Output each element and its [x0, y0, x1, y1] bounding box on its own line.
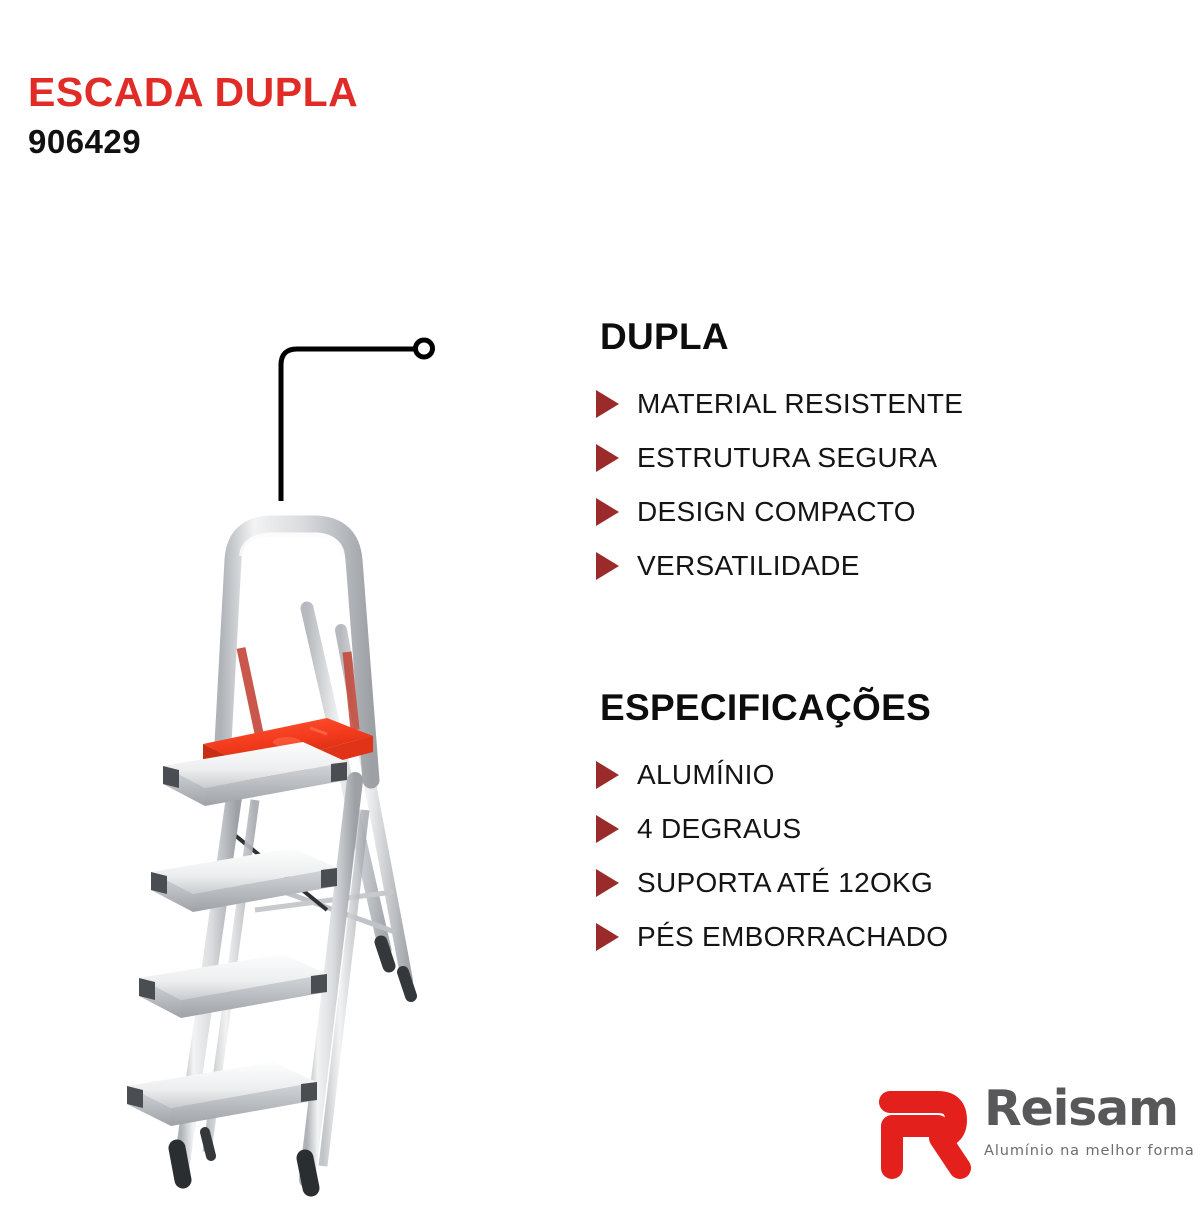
- triangle-right-icon: [596, 923, 619, 951]
- list-item: ESTRUTURA SEGURA: [596, 431, 1176, 485]
- list-item: ALUMÍNIO: [596, 748, 1176, 802]
- step-ladder-illustration: [55, 480, 515, 1200]
- feature-label: MATERIAL RESISTENTE: [637, 388, 963, 420]
- feature-label: DESIGN COMPACTO: [637, 496, 916, 528]
- triangle-right-icon: [596, 761, 619, 789]
- reisam-r-monogram-icon: [872, 1076, 976, 1180]
- product-image: [55, 480, 515, 1200]
- feature-label: ALUMÍNIO: [637, 759, 775, 791]
- feature-label: 4 DEGRAUS: [637, 813, 802, 845]
- step: [127, 1062, 317, 1126]
- content-column: DUPLA MATERIAL RESISTENTE ESTRUTURA SEGU…: [596, 318, 1176, 964]
- triangle-right-icon: [596, 498, 619, 526]
- brand-logo: Reisam Alumínio na melhor forma: [872, 1074, 1184, 1186]
- feature-label: PÉS EMBORRACHADO: [637, 921, 948, 953]
- feature-list: MATERIAL RESISTENTE ESTRUTURA SEGURA DES…: [596, 377, 1176, 593]
- triangle-right-icon: [596, 444, 619, 472]
- triangle-right-icon: [596, 815, 619, 843]
- section-heading: DUPLA: [600, 318, 1176, 357]
- list-item: SUPORTA ATÉ 12OKG: [596, 856, 1176, 910]
- triangle-right-icon: [596, 390, 619, 418]
- list-item: 4 DEGRAUS: [596, 802, 1176, 856]
- list-item: DESIGN COMPACTO: [596, 485, 1176, 539]
- brand-name: Reisam: [984, 1084, 1184, 1133]
- product-code: 906429: [28, 125, 588, 158]
- list-item: MATERIAL RESISTENTE: [596, 377, 1176, 431]
- rubber-feet: [177, 1132, 311, 1188]
- section-dupla: DUPLA MATERIAL RESISTENTE ESTRUTURA SEGU…: [596, 318, 1176, 593]
- section-especificacoes: ESPECIFICAÇÕES ALUMÍNIO 4 DEGRAUS SUPORT…: [596, 689, 1176, 964]
- feature-list: ALUMÍNIO 4 DEGRAUS SUPORTA ATÉ 12OKG PÉS…: [596, 748, 1176, 964]
- triangle-right-icon: [596, 552, 619, 580]
- page-title: ESCADA DUPLA: [28, 72, 588, 113]
- step: [163, 742, 347, 806]
- feature-label: ESTRUTURA SEGURA: [637, 442, 937, 474]
- page-header: ESCADA DUPLA 906429: [28, 72, 588, 158]
- logo-text-group: Reisam Alumínio na melhor forma: [984, 1084, 1184, 1159]
- brand-tagline: Alumínio na melhor forma: [984, 1144, 1184, 1159]
- feature-label: VERSATILIDADE: [637, 550, 860, 582]
- list-item: PÉS EMBORRACHADO: [596, 910, 1176, 964]
- list-item: VERSATILIDADE: [596, 539, 1176, 593]
- feature-label: SUPORTA ATÉ 12OKG: [637, 867, 933, 899]
- r-monogram-shape: [872, 1076, 976, 1180]
- triangle-right-icon: [596, 869, 619, 897]
- section-heading: ESPECIFICAÇÕES: [600, 689, 1176, 728]
- step: [139, 954, 327, 1018]
